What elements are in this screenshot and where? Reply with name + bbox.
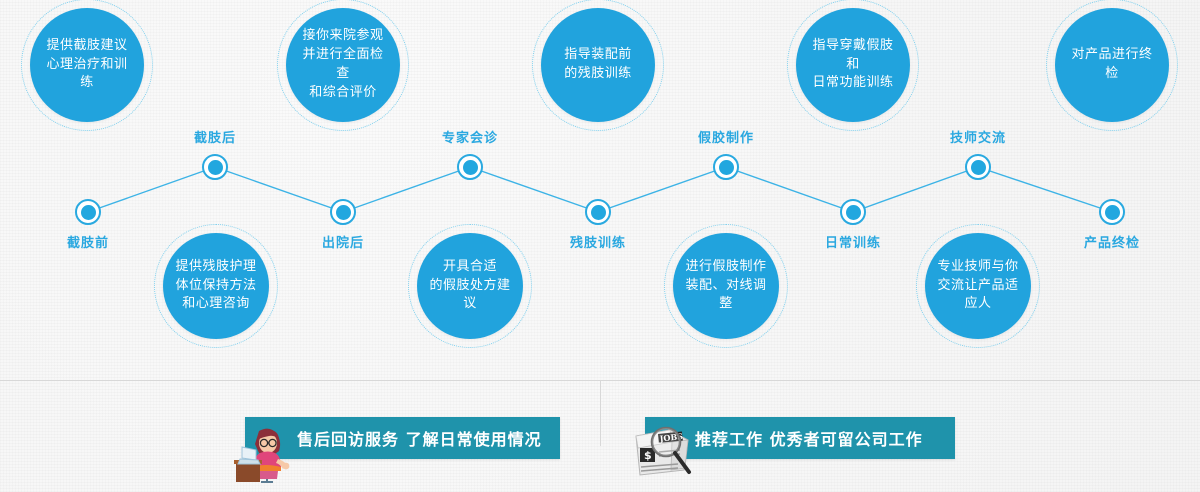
node-dot-icon xyxy=(208,160,223,175)
timeline-node-3[interactable] xyxy=(457,154,483,180)
node-dot-icon xyxy=(1105,205,1120,220)
banner-job-recommendation-label: 推荐工作 优秀者可留公司工作 xyxy=(695,426,923,450)
banner-after-sales-label: 售后回访服务 了解日常使用情况 xyxy=(297,426,542,450)
timeline-node-label-1: 截肢后 xyxy=(194,127,236,146)
timeline-node-label-5: 假胶制作 xyxy=(698,127,754,146)
vertical-divider xyxy=(600,380,601,446)
node-dot-icon xyxy=(81,205,96,220)
timeline-node-8[interactable] xyxy=(1099,199,1125,225)
node-dot-icon xyxy=(971,160,986,175)
node-dot-icon xyxy=(463,160,478,175)
node-dot-icon xyxy=(591,205,606,220)
timeline-node-label-8: 产品终检 xyxy=(1084,232,1140,251)
timeline-node-6[interactable] xyxy=(840,199,866,225)
timeline-node-label-6: 日常训练 xyxy=(825,232,881,251)
timeline-node-label-0: 截肢前 xyxy=(67,232,109,251)
node-dot-icon xyxy=(719,160,734,175)
timeline-node-4[interactable] xyxy=(585,199,611,225)
timeline-node-5[interactable] xyxy=(713,154,739,180)
node-dot-icon xyxy=(336,205,351,220)
timeline-node-label-2: 出院后 xyxy=(322,232,364,251)
timeline-node-1[interactable] xyxy=(202,154,228,180)
node-dot-icon xyxy=(846,205,861,220)
timeline-node-2[interactable] xyxy=(330,199,356,225)
jobs-magnifier-icon: JOBS $ xyxy=(632,420,694,482)
timeline-node-label-3: 专家会诊 xyxy=(442,127,498,146)
timeline-node-label-7: 技师交流 xyxy=(950,127,1006,146)
timeline-node-7[interactable] xyxy=(965,154,991,180)
svg-text:$: $ xyxy=(644,449,652,462)
timeline-node-label-4: 残肢训练 xyxy=(570,232,626,251)
woman-at-desk-icon xyxy=(234,421,296,483)
timeline-node-0[interactable] xyxy=(75,199,101,225)
